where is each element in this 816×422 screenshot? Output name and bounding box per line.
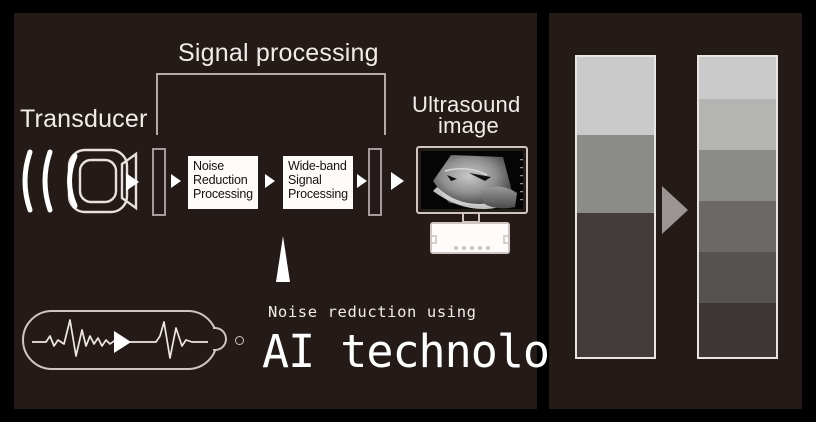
wide-band-line3: Processing [288, 187, 349, 201]
gradation-segment [699, 150, 776, 201]
gradation-segment [577, 135, 654, 213]
signal-bar-output [368, 148, 382, 216]
noise-reduction-line1: Noise [193, 159, 254, 173]
waveform-transform-arrow [114, 331, 131, 353]
gradation-segment [699, 201, 776, 252]
gradation-segment [699, 303, 776, 357]
bubble-dot [235, 336, 244, 345]
gradation-bar-before [575, 55, 656, 359]
ultrasound-monitor-icon [416, 146, 528, 214]
gradation-bar-after [697, 55, 778, 359]
signal-processing-bracket [156, 73, 386, 135]
ultrasound-console-icon [430, 222, 510, 254]
flow-arrow-2 [171, 174, 181, 188]
up-arrow-icon [276, 236, 290, 282]
diagram-root: Signal processing Transducer Ultrasound … [0, 0, 816, 422]
wide-band-signal-processing-box[interactable]: Wide-band Signal Processing [283, 156, 353, 209]
flow-arrow-1 [126, 173, 139, 191]
flow-arrow-3 [265, 174, 275, 188]
wide-band-line1: Wide-band [288, 159, 349, 173]
ultrasound-screen [421, 151, 523, 209]
flow-arrow-4 [357, 174, 367, 188]
flow-arrow-5 [391, 172, 404, 190]
noise-reduction-line2: Reduction [193, 173, 254, 187]
wide-band-line2: Signal [288, 173, 349, 187]
transducer-label: Transducer [20, 105, 148, 134]
noise-reduction-processing-box[interactable]: Noise Reduction Processing [188, 156, 258, 209]
signal-processing-heading: Signal processing [178, 39, 379, 68]
gradation-segment [577, 57, 654, 135]
noise-reduction-line3: Processing [193, 187, 254, 201]
gradation-segment [699, 57, 776, 99]
gradation-segment [577, 213, 654, 357]
gradation-segment [699, 99, 776, 150]
transducer-probe-icon [18, 142, 138, 220]
comparison-arrow-icon [662, 186, 688, 234]
signal-bar-input [152, 148, 166, 216]
gradation-segment [699, 252, 776, 303]
ultrasound-image-label-line2: image [438, 113, 499, 139]
